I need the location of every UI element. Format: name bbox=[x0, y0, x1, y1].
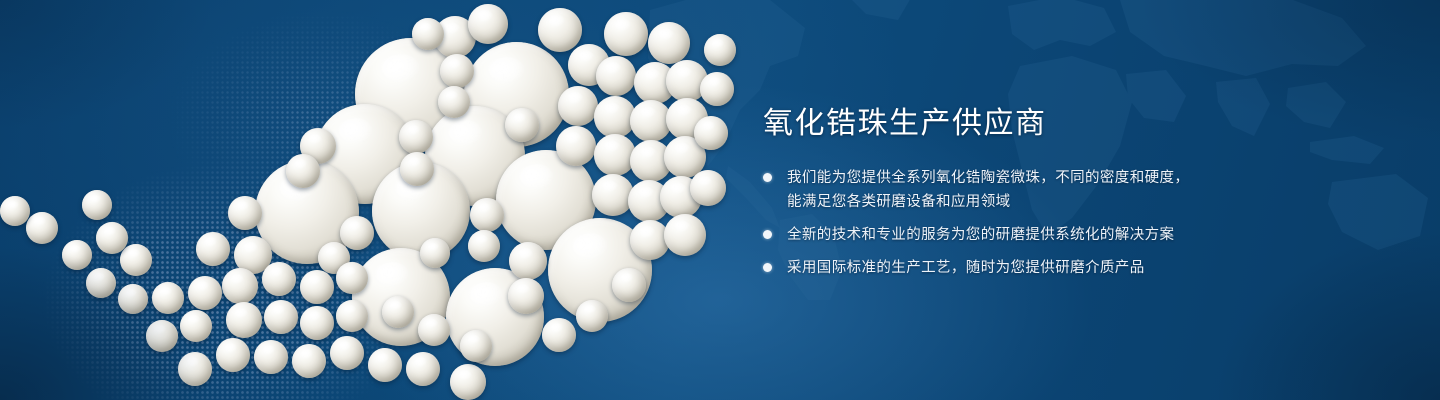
halftone-texture-upper bbox=[140, 0, 480, 240]
list-item-line1: 采用国际标准的生产工艺，随时为您提供研磨介质产品 bbox=[787, 260, 1145, 276]
hero-banner: 氧化锆珠生产供应商 我们能为您提供全系列氧化锆陶瓷微珠，不同的密度和硬度， 能满… bbox=[0, 0, 1440, 400]
page-title: 氧化锆珠生产供应商 bbox=[763, 104, 1323, 144]
list-item-line1: 我们能为您提供全系列氧化锆陶瓷微珠，不同的密度和硬度， bbox=[787, 170, 1189, 186]
banner-content: 氧化锆珠生产供应商 我们能为您提供全系列氧化锆陶瓷微珠，不同的密度和硬度， 能满… bbox=[763, 104, 1323, 289]
list-item: 全新的技术和专业的服务为您的研磨提供系统化的解决方案 bbox=[763, 223, 1323, 247]
zirconia-beads-image bbox=[0, 0, 760, 400]
list-item-line1: 全新的技术和专业的服务为您的研磨提供系统化的解决方案 bbox=[787, 227, 1174, 243]
list-item-text: 全新的技术和专业的服务为您的研磨提供系统化的解决方案 bbox=[787, 223, 1174, 247]
bullet-dot-icon bbox=[763, 230, 772, 239]
feature-list: 我们能为您提供全系列氧化锆陶瓷微珠，不同的密度和硬度， 能满足您各类研磨设备和应… bbox=[763, 166, 1323, 280]
list-item: 采用国际标准的生产工艺，随时为您提供研磨介质产品 bbox=[763, 256, 1323, 280]
list-item-text: 我们能为您提供全系列氧化锆陶瓷微珠，不同的密度和硬度， 能满足您各类研磨设备和应… bbox=[787, 166, 1189, 214]
halftone-texture bbox=[0, 150, 420, 400]
list-item-line2: 能满足您各类研磨设备和应用领域 bbox=[787, 190, 1189, 214]
list-item: 我们能为您提供全系列氧化锆陶瓷微珠，不同的密度和硬度， 能满足您各类研磨设备和应… bbox=[763, 166, 1323, 214]
bullet-dot-icon bbox=[763, 263, 772, 272]
list-item-text: 采用国际标准的生产工艺，随时为您提供研磨介质产品 bbox=[787, 256, 1145, 280]
bullet-dot-icon bbox=[763, 173, 772, 182]
